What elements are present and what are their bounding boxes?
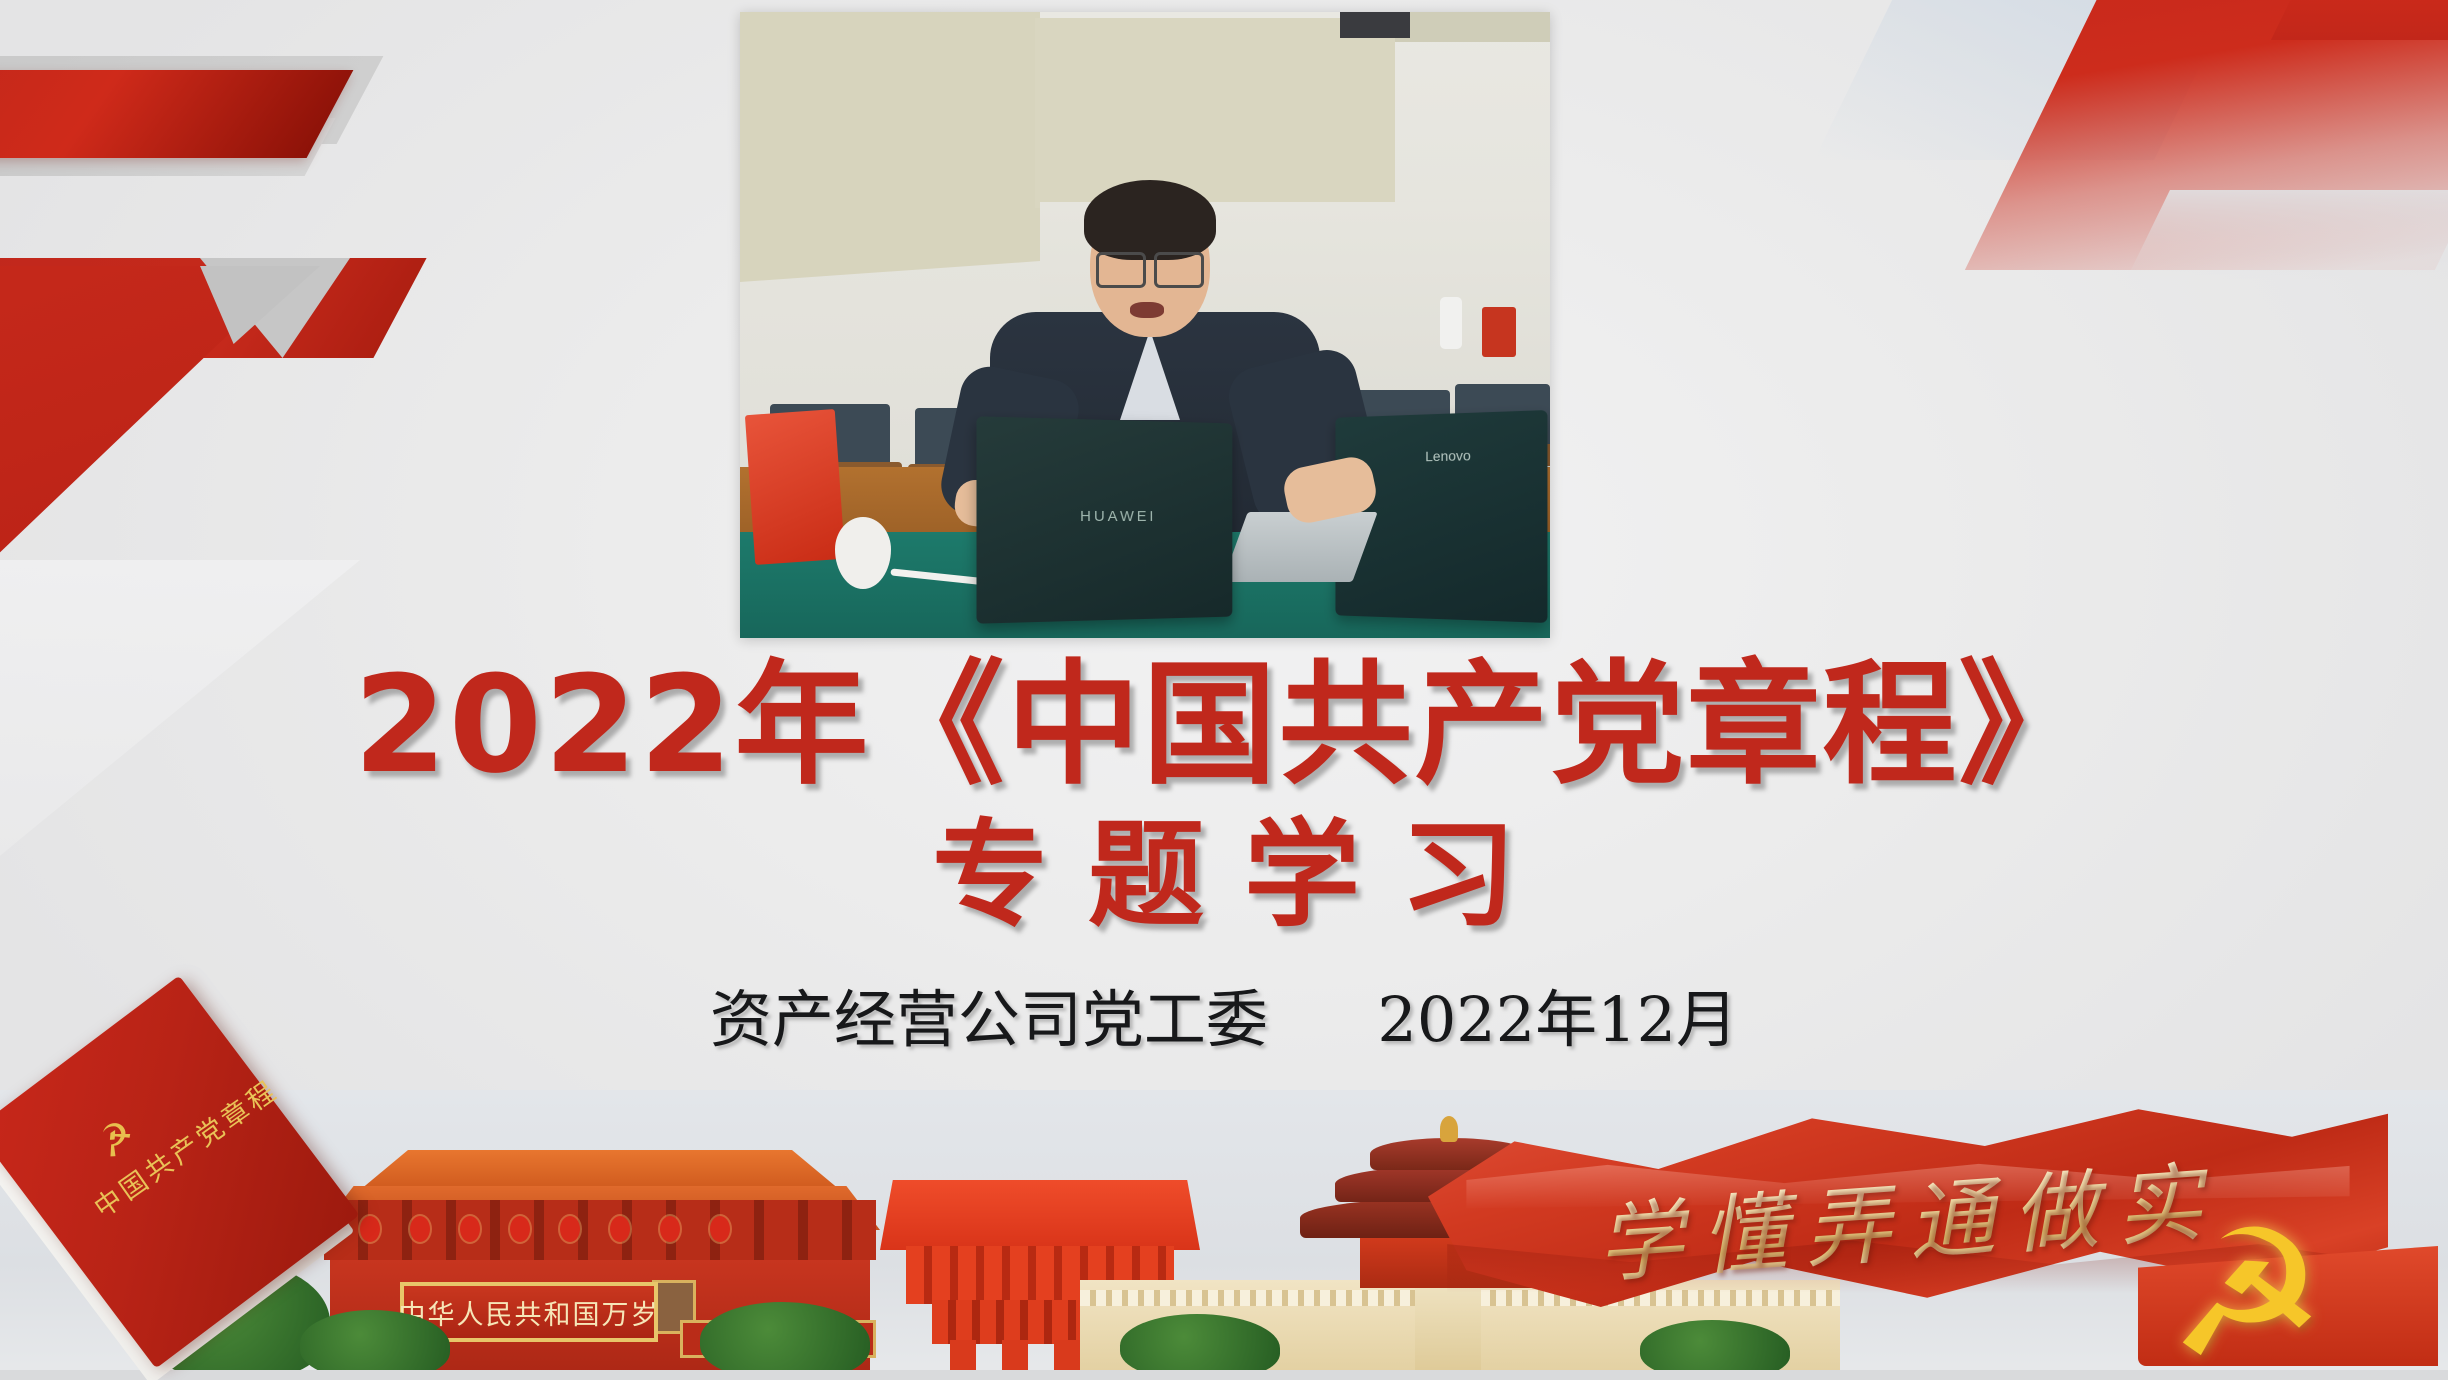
subtitle-date: 2022年12月 — [1377, 983, 1738, 1056]
lantern-icon — [510, 1216, 530, 1242]
meeting-photo: Lenovo HUAWEI — [740, 12, 1550, 638]
subtitle: 资产经营公司党工委 2022年12月 — [0, 969, 2448, 1059]
subtitle-organization: 资产经营公司党工委 — [710, 983, 1268, 1056]
tiananmen-upper-roof — [360, 1150, 840, 1190]
tiananmen-banner-text: 中华人民共和国万岁 — [399, 1293, 660, 1332]
photo-keyboard — [1222, 512, 1377, 582]
lantern-icon — [660, 1216, 680, 1242]
photo-wall-panel — [1395, 12, 1550, 42]
photo-person-hair — [1084, 180, 1216, 260]
lantern-icon — [710, 1216, 730, 1242]
photo-red-booklet — [745, 409, 845, 565]
top-left-red-band — [0, 70, 353, 158]
page-title-line1: 2022年《中国共产党章程》 — [0, 650, 2448, 800]
lantern-icon — [460, 1216, 480, 1242]
ribbon-slogan: 学懂弄通做实 — [1592, 1131, 2223, 1299]
shrub — [700, 1302, 870, 1380]
lantern-icon — [410, 1216, 430, 1242]
slide-bottom-edge — [0, 1370, 2448, 1380]
top-right-red-strip — [2271, 0, 2448, 40]
photo-wall-panel — [1035, 18, 1395, 208]
photo-red-box — [1482, 307, 1516, 357]
photo-laptop-left: HUAWEI — [976, 416, 1232, 623]
pavilion-top — [880, 1180, 1200, 1250]
lantern-icon — [610, 1216, 630, 1242]
photo-wall-panel — [740, 12, 1040, 282]
top-right-grey-fade — [2126, 190, 2448, 280]
title-block: 2022年《中国共产党章程》 专题学习 资产经营公司党工委 2022年12月 — [0, 650, 2448, 1059]
lantern-icon — [360, 1216, 380, 1242]
glasses-icon — [1096, 252, 1204, 282]
hammer-sickle-icon: ☭ — [2132, 1210, 2362, 1380]
photo-bottle — [1440, 297, 1462, 349]
laptop-left-brand: HUAWEI — [1080, 508, 1156, 525]
presentation-slide: Lenovo HUAWEI 2022年《中国共产党章程》 专题学习 资产经营公司… — [0, 0, 2448, 1380]
page-title-line2: 专题学习 — [0, 806, 2448, 945]
tiananmen-colonnade — [324, 1200, 876, 1260]
photo-person-mouth — [1130, 302, 1164, 318]
laptop-right-brand: Lenovo — [1425, 447, 1471, 464]
bottom-illustration-band: 中华人民共和国万岁 — [0, 1090, 2448, 1380]
photo-ceiling-fixture — [1340, 12, 1410, 38]
lantern-icon — [560, 1216, 580, 1242]
